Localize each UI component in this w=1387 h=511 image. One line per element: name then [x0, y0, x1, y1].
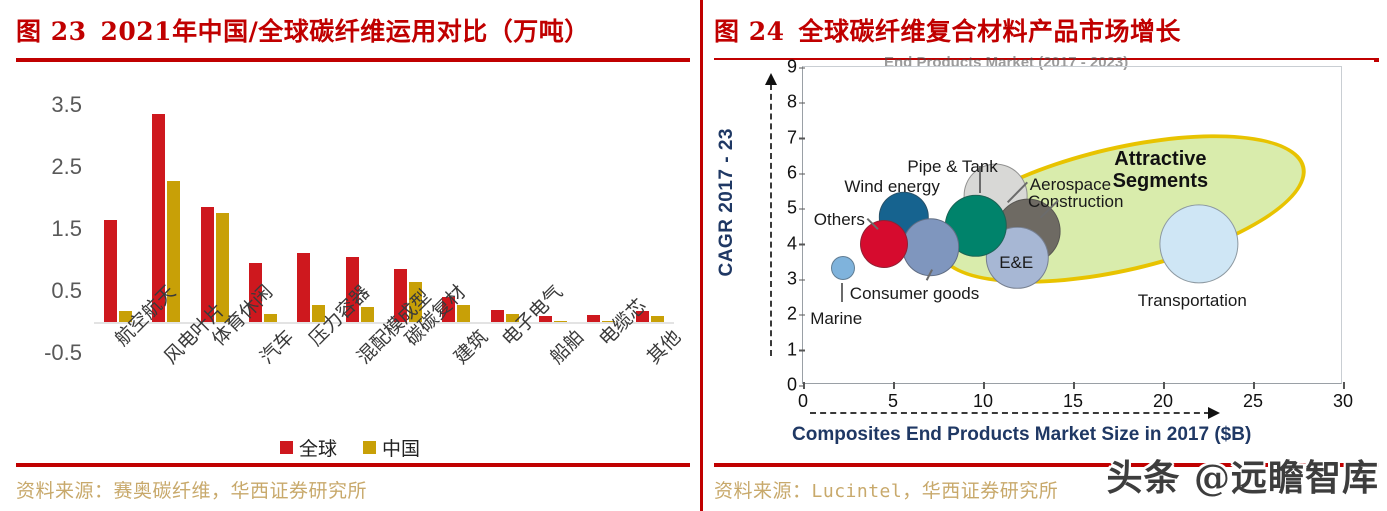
bar-global[interactable] [297, 253, 310, 322]
y-tick-label: 3.5 [51, 92, 82, 118]
y-tick-label: 6 [787, 163, 797, 184]
figure-page: 图 232021年中国/全球碳纤维运用对比（万吨） -0.50.51.52.53… [0, 0, 1387, 511]
bubble-chart-y-axis-title: CAGR 2017 - 23 [716, 128, 738, 277]
bar-group [94, 80, 142, 322]
leader-line [841, 283, 843, 302]
y-tick-label: 1.5 [51, 216, 82, 242]
x-tick-label: 船舶 [543, 323, 589, 369]
bubble-transportation[interactable] [1159, 204, 1238, 283]
x-axis-arrow-icon [810, 412, 1210, 414]
x-tick-label: 15 [1063, 391, 1083, 412]
bar-global[interactable] [491, 310, 504, 322]
right-source-note: 资料来源：Lucintel，华西证券研究所 [714, 476, 1058, 503]
y-tick-label: -0.5 [44, 340, 82, 366]
left-top-rule [16, 58, 690, 62]
watermark: 头条 @远瞻智库 [1106, 449, 1379, 501]
bar-global[interactable] [104, 220, 117, 322]
legend-item[interactable]: 中国 [363, 434, 420, 461]
bar-chart-plot-area [94, 80, 674, 322]
y-tick-label: 0 [787, 375, 797, 396]
bar-group [287, 80, 335, 322]
bubble-label-consumer-goods: Consumer goods [850, 284, 979, 304]
x-tick-label: 25 [1243, 391, 1263, 412]
x-tick-label: 其他 [640, 323, 686, 369]
bar-group [481, 80, 529, 322]
bubble-label-construction: Construction [1028, 192, 1123, 212]
legend-swatch [280, 441, 293, 454]
bubble-label-others: Others [814, 210, 865, 230]
bubble-chart-x-axis-title: Composites End Products Market Size in 2… [792, 424, 1251, 446]
right-source-suffix: ，华西证券研究所 [902, 480, 1058, 502]
x-tick-label: 建筑 [447, 323, 493, 369]
right-figure-panel: 图 24全球碳纤维复合材料产品市场增长 End Products Market … [700, 0, 1387, 511]
x-tick-label: 5 [888, 391, 898, 412]
bubble-others[interactable] [860, 220, 908, 268]
left-figure-title: 2021年中国/全球碳纤维运用对比（万吨） [101, 17, 590, 46]
left-figure-panel: 图 232021年中国/全球碳纤维运用对比（万吨） -0.50.51.52.53… [0, 0, 700, 511]
y-tick-label: 1 [787, 339, 797, 360]
y-tick-label: 0.5 [51, 278, 82, 304]
bar-group [577, 80, 625, 322]
y-tick-label: 2 [787, 304, 797, 325]
bar-chart-legend: 全球中国 [16, 434, 684, 461]
bar-global[interactable] [587, 315, 600, 322]
y-tick-label: 3 [787, 269, 797, 290]
attractive-segments-annotation: AttractiveSegments [1113, 148, 1209, 192]
bar-group [384, 80, 432, 322]
right-figure-number: 图 24 [714, 17, 785, 46]
y-tick-label: 5 [787, 198, 797, 219]
bar-china[interactable] [264, 314, 277, 322]
bubble-label-transportation: Transportation [1138, 291, 1247, 311]
annotation-line-1: Attractive [1113, 148, 1209, 170]
bubble-chart: End Products Market (2017 - 2023) CAGR 2… [714, 60, 1374, 460]
y-tick-label: 4 [787, 233, 797, 254]
x-tick-label: 20 [1153, 391, 1173, 412]
bar-chart-x-axis: 航空航天风电叶片体育休闲汽车压力容器混配模成型碳碳复材建筑电子电气船舶电缆芯其他 [94, 328, 684, 428]
left-bottom-rule [16, 463, 690, 467]
annotation-line-2: Segments [1113, 170, 1209, 192]
right-figure-title: 全球碳纤维复合材料产品市场增长 [799, 17, 1182, 46]
bubble-label-marine: Marine [810, 309, 862, 329]
bar-chart-y-axis: -0.50.51.52.53.5 [16, 66, 88, 322]
bar-china[interactable] [651, 316, 664, 322]
bar-group [191, 80, 239, 322]
right-source-name: Lucintel [812, 481, 903, 502]
y-tick-label: 2.5 [51, 154, 82, 180]
x-tick-label: 10 [973, 391, 993, 412]
right-figure-caption: 图 24全球碳纤维复合材料产品市场增长 [714, 12, 1181, 48]
x-tick-label: 汽车 [253, 323, 299, 369]
y-axis-arrow-icon [770, 84, 772, 356]
left-figure-number: 图 23 [16, 17, 87, 46]
leader-line [980, 166, 982, 193]
bubble-label-wind-energy: Wind energy [844, 177, 939, 197]
bubble-label-pipe-tank: Pipe & Tank [907, 157, 997, 177]
bubble-marine[interactable] [831, 256, 855, 280]
y-tick-label: 7 [787, 127, 797, 148]
legend-item[interactable]: 全球 [280, 434, 337, 461]
bar-chart: -0.50.51.52.53.5 航空航天风电叶片体育休闲汽车压力容器混配模成型… [16, 66, 684, 426]
bubble-label-e-e: E&E [999, 253, 1033, 273]
left-figure-caption: 图 232021年中国/全球碳纤维运用对比（万吨） [16, 12, 590, 48]
right-source-prefix: 资料来源： [714, 480, 812, 502]
bubble-consumer-goods[interactable] [902, 218, 960, 276]
x-tick-label: 0 [798, 391, 808, 412]
bar-china[interactable] [554, 321, 567, 322]
legend-swatch [363, 441, 376, 454]
legend-label: 全球 [299, 434, 337, 461]
y-tick-label: 8 [787, 92, 797, 113]
left-source-note: 资料来源：赛奥碳纤维，华西证券研究所 [16, 476, 367, 503]
bubble-chart-plot-area: 0123456789051015202530AttractiveSegments… [802, 66, 1342, 384]
legend-label: 中国 [382, 434, 420, 461]
bar-group [626, 80, 674, 322]
y-tick-label: 9 [787, 57, 797, 78]
x-tick-label: 30 [1333, 391, 1353, 412]
